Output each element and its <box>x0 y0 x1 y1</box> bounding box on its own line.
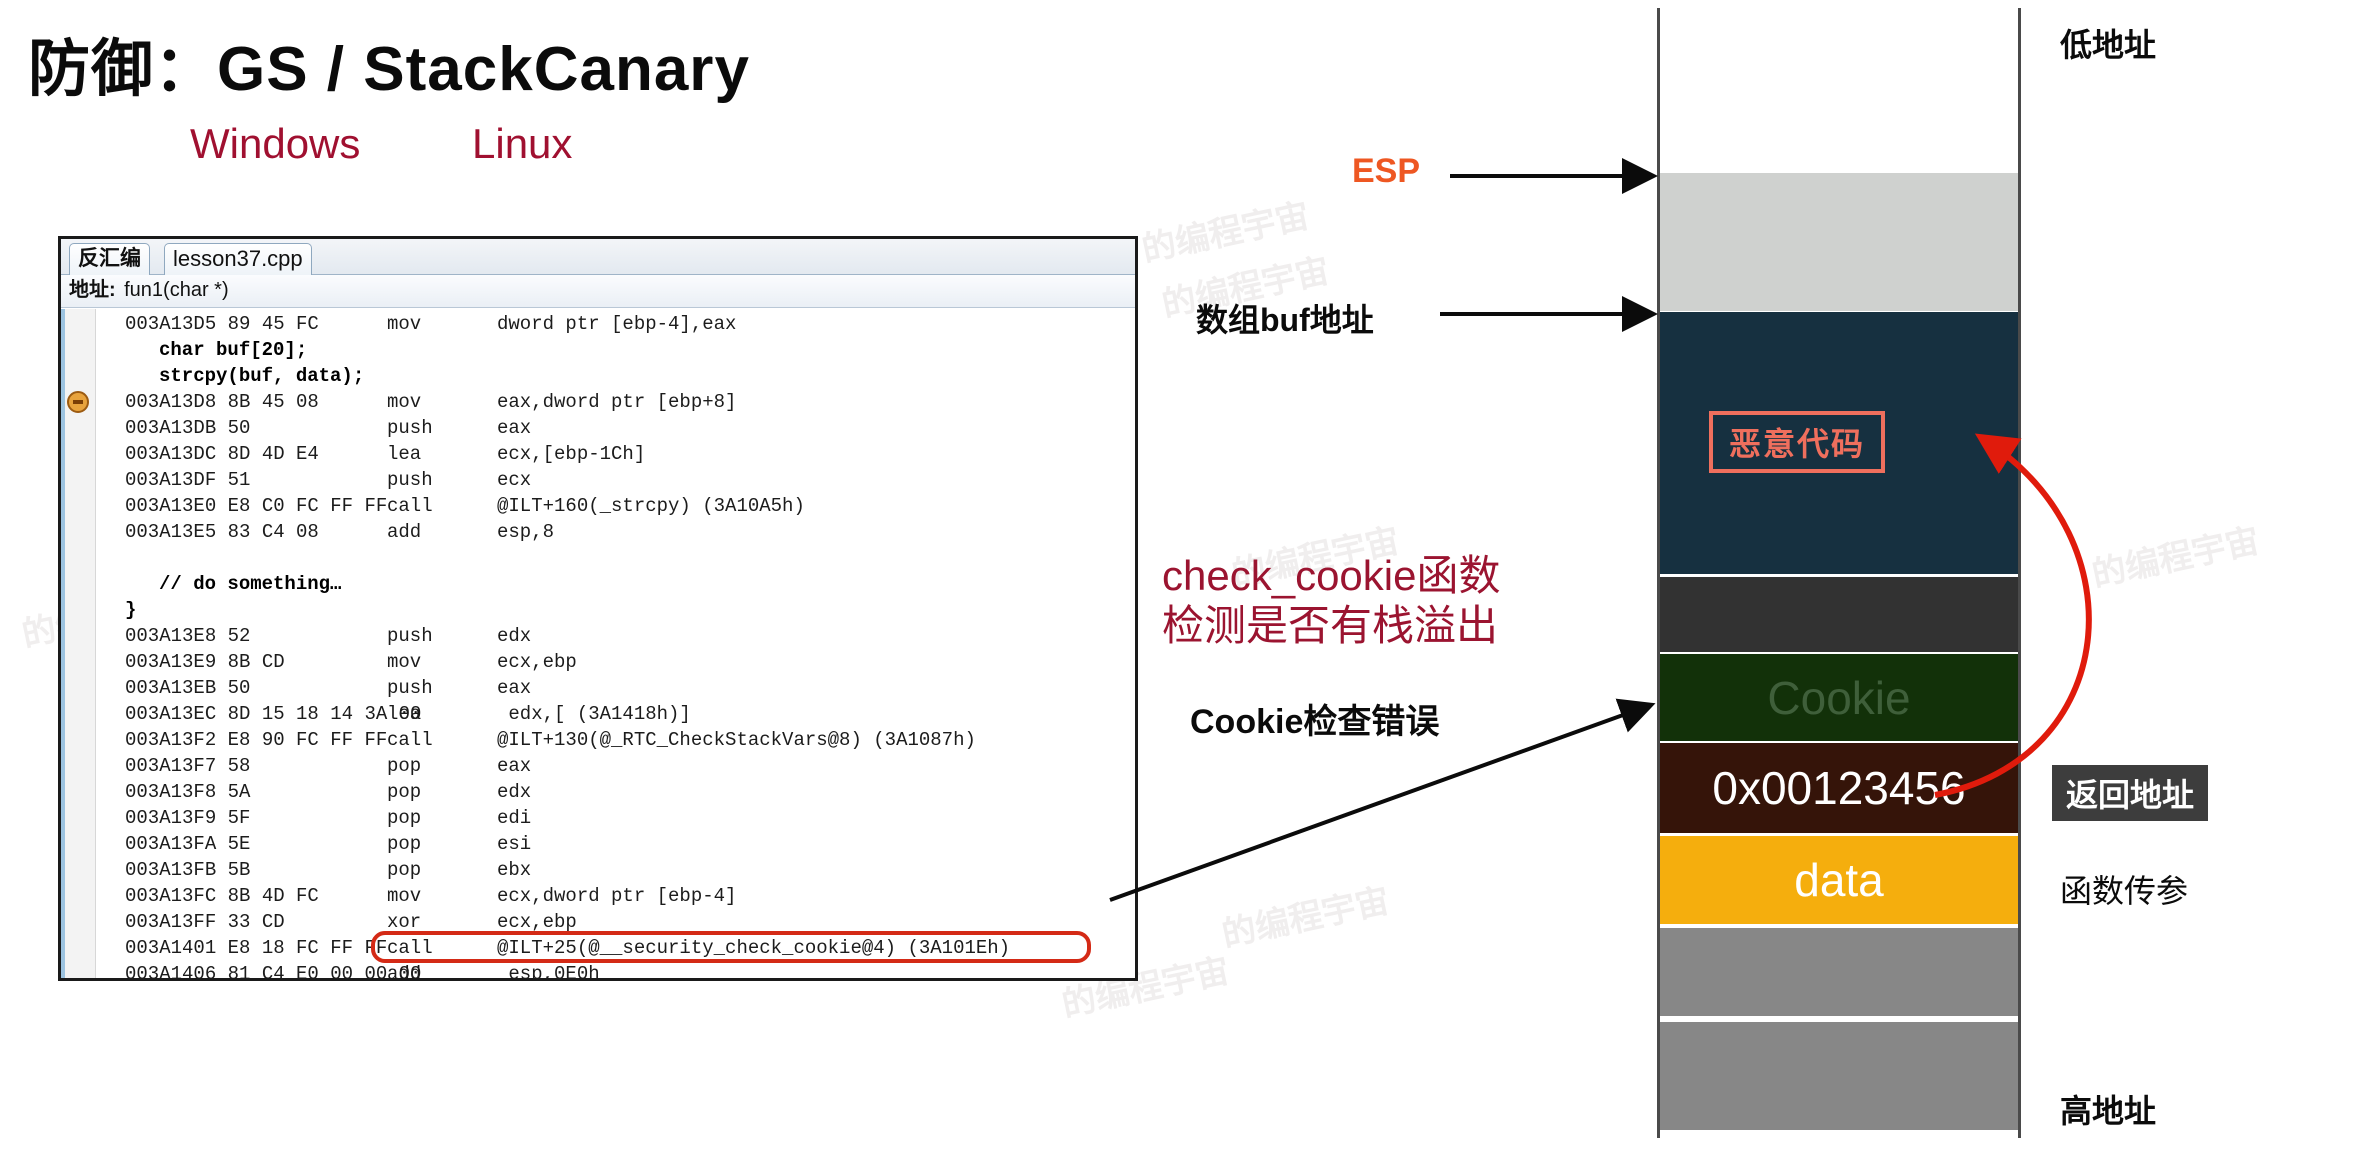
code-line-asm[interactable]: 003A13EC 8D 15 18 14 3A 00lea edx,[ (3A1… <box>97 701 1131 727</box>
instruction-operands: ecx,dword ptr [ebp-4] <box>497 883 736 909</box>
instruction-address: 003A13D5 89 45 FC <box>125 311 319 337</box>
instruction-mnemonic: mov <box>387 649 421 675</box>
stack-band-label: 0x00123456 <box>1712 761 1965 815</box>
code-line-asm[interactable]: 003A13D8 8B 45 08moveax,dword ptr [ebp+8… <box>97 389 1131 415</box>
source-text: char buf[20]; <box>159 337 307 363</box>
return-address-badge: 返回地址 <box>2052 765 2208 821</box>
instruction-operands: eax <box>497 675 531 701</box>
code-line-asm[interactable]: 003A13E5 83 C4 08addesp,8 <box>97 519 1131 545</box>
instruction-address: 003A13E5 83 C4 08 <box>125 519 319 545</box>
address-bar: 地址: fun1(char *) <box>61 275 1135 308</box>
instruction-mnemonic: pop <box>387 753 421 779</box>
instruction-address: 003A13EC 8D 15 18 14 3A 00 <box>125 701 421 727</box>
instruction-address: 003A13EB 50 <box>125 675 250 701</box>
platform-label-windows: Windows <box>190 120 360 168</box>
instruction-operands: @ILT+25(@__security_check_cookie@4) (3A1… <box>497 935 1010 961</box>
instruction-operands: dword ptr [ebp-4],eax <box>497 311 736 337</box>
instruction-operands: @ILT+130(@_RTC_CheckStackVars@8) (3A1087… <box>497 727 976 753</box>
instruction-address: 003A13E8 52 <box>125 623 250 649</box>
instruction-mnemonic: pop <box>387 779 421 805</box>
esp-label: ESP <box>1352 152 1420 191</box>
instruction-mnemonic: call <box>387 935 433 961</box>
source-text: strcpy(buf, data); <box>159 363 364 389</box>
code-line-source[interactable]: strcpy(buf, data); <box>97 363 1131 389</box>
instruction-operands: esp,8 <box>497 519 554 545</box>
instruction-mnemonic: push <box>387 467 433 493</box>
instruction-operands: edx <box>497 623 531 649</box>
instruction-address: 003A13FB 5B <box>125 857 250 883</box>
code-line-asm[interactable]: 003A13FA 5Epopesi <box>97 831 1131 857</box>
instruction-address: 003A13DC 8D 4D E4 <box>125 441 319 467</box>
instruction-mnemonic: call <box>387 493 433 519</box>
instruction-address: 003A13F9 5F <box>125 805 250 831</box>
instruction-address: 003A13DF 51 <box>125 467 250 493</box>
instruction-address: 003A13D8 8B 45 08 <box>125 389 319 415</box>
instruction-address: 003A13F8 5A <box>125 779 250 805</box>
instruction-mnemonic: push <box>387 415 433 441</box>
code-line-asm[interactable]: 003A13F7 58popeax <box>97 753 1131 779</box>
instruction-address: 003A1401 E8 18 FC FF FF <box>125 935 387 961</box>
instruction-mnemonic: xor <box>387 909 421 935</box>
stack-band-esp-free-space <box>1660 173 2018 311</box>
instruction-address: 003A13FC 8B 4D FC <box>125 883 319 909</box>
code-line-list: 003A13D5 89 45 FCmovdword ptr [ebp-4],ea… <box>97 311 1131 978</box>
code-line-source[interactable]: } <box>97 597 1131 623</box>
tab-strip: 反汇编 lesson37.cpp <box>61 239 1135 275</box>
stack-diagram: Cookie0x00123456data <box>1657 0 2355 1164</box>
code-line-asm[interactable]: 003A13E9 8B CDmovecx,ebp <box>97 649 1131 675</box>
code-line-source[interactable]: // do something… <box>97 571 1131 597</box>
stack-band-cookie: Cookie <box>1660 654 2018 741</box>
malicious-code-box: 恶意代码 <box>1709 411 1885 473</box>
instruction-operands: ecx,[ebp-1Ch] <box>497 441 645 467</box>
check-cookie-note-line1: check_cookie函数 <box>1162 551 1500 601</box>
source-text: // do something… <box>159 571 341 597</box>
code-line-asm[interactable]: 003A13DB 50pusheax <box>97 415 1131 441</box>
instruction-operands: edx <box>497 779 531 805</box>
code-line-asm[interactable]: 003A13F8 5Apopedx <box>97 779 1131 805</box>
instruction-operands: ebx <box>497 857 531 883</box>
code-line-source[interactable]: char buf[20]; <box>97 337 1131 363</box>
function-params-label: 函数传参 <box>2060 866 2188 912</box>
instruction-operands: eax <box>497 415 531 441</box>
instruction-mnemonic: add <box>387 519 421 545</box>
address-bar-label: 地址: <box>69 279 116 301</box>
code-body: 003A13D5 89 45 FCmovdword ptr [ebp-4],ea… <box>61 309 1135 978</box>
instruction-operands: ecx <box>497 467 531 493</box>
current-instruction-pointer-icon <box>67 391 89 413</box>
instruction-mnemonic: pop <box>387 805 421 831</box>
code-line-asm[interactable]: 003A13FC 8B 4D FCmovecx,dword ptr [ebp-4… <box>97 883 1131 909</box>
instruction-mnemonic: mov <box>387 311 421 337</box>
stack-band-caller-frame-1 <box>1660 928 2018 1016</box>
instruction-operands: edx,[ (3A1418h)] <box>497 701 691 727</box>
instruction-mnemonic: mov <box>387 389 421 415</box>
instruction-mnemonic: push <box>387 675 433 701</box>
check-cookie-note-line2: 检测是否有栈溢出 <box>1162 601 1500 651</box>
instruction-operands: @ILT+160(_strcpy) (3A10A5h) <box>497 493 805 519</box>
disassembly-window: 反汇编 lesson37.cpp 地址: fun1(char *) 003A13… <box>58 236 1138 981</box>
instruction-address: 003A1406 81 C4 E0 00 00 00 <box>125 961 421 981</box>
code-line-asm[interactable]: 003A13F9 5Fpopedi <box>97 805 1131 831</box>
watermark: 的编程宇宙 <box>1217 873 1393 956</box>
code-line-asm[interactable]: 003A13E0 E8 C0 FC FF FFcall@ILT+160(_str… <box>97 493 1131 519</box>
low-address-label: 低地址 <box>2060 20 2156 66</box>
instruction-mnemonic: add <box>387 961 421 981</box>
instruction-operands: ecx,ebp <box>497 649 577 675</box>
tab-source-file[interactable]: lesson37.cpp <box>164 243 312 275</box>
stack-right-rail <box>2018 8 2021 1138</box>
page-title: 防御：GS / StackCanary <box>28 18 750 108</box>
instruction-operands: ecx,ebp <box>497 909 577 935</box>
code-line-asm[interactable]: 003A13F2 E8 90 FC FF FFcall@ILT+130(@_RT… <box>97 727 1131 753</box>
code-line-asm[interactable]: 003A13DC 8D 4D E4leaecx,[ebp-1Ch] <box>97 441 1131 467</box>
buf-address-label: 数组buf地址 <box>1196 295 1374 341</box>
code-line-asm[interactable]: 003A13FB 5Bpopebx <box>97 857 1131 883</box>
instruction-mnemonic: lea <box>387 441 421 467</box>
code-line-asm[interactable]: 003A13EB 50pusheax <box>97 675 1131 701</box>
code-line-asm[interactable]: 003A13D5 89 45 FCmovdword ptr [ebp-4],ea… <box>97 311 1131 337</box>
check-cookie-note: check_cookie函数 检测是否有栈溢出 <box>1162 551 1500 651</box>
cookie-error-label: Cookie检查错误 <box>1190 694 1439 743</box>
code-line-asm[interactable]: 003A13FF 33 CDxorecx,ebp <box>97 909 1131 935</box>
stack-band-saved-regs <box>1660 577 2018 652</box>
gutter-accent-bar <box>61 309 65 978</box>
instruction-mnemonic: pop <box>387 857 421 883</box>
instruction-operands: eax <box>497 753 531 779</box>
code-line-asm[interactable]: 003A1401 E8 18 FC FF FFcall@ILT+25(@__se… <box>97 935 1131 961</box>
code-line-asm[interactable]: 003A13E8 52pushedx <box>97 623 1131 649</box>
code-line-asm[interactable]: 003A13DF 51pushecx <box>97 467 1131 493</box>
stack-band-label: Cookie <box>1767 671 1910 725</box>
instruction-address: 003A13DB 50 <box>125 415 250 441</box>
instruction-operands: esi <box>497 831 531 857</box>
instruction-address: 003A13E9 8B CD <box>125 649 285 675</box>
stack-band-caller-frame-2 <box>1660 1022 2018 1130</box>
source-text: } <box>125 597 136 623</box>
instruction-operands: eax,dword ptr [ebp+8] <box>497 389 736 415</box>
instruction-mnemonic: lea <box>387 701 421 727</box>
platform-label-linux: Linux <box>472 120 572 168</box>
high-address-label: 高地址 <box>2060 1086 2156 1132</box>
instruction-mnemonic: call <box>387 727 433 753</box>
address-bar-value[interactable]: fun1(char *) <box>124 279 229 301</box>
instruction-mnemonic: pop <box>387 831 421 857</box>
instruction-operands: esp,0E0h <box>497 961 600 981</box>
instruction-address: 003A13F2 E8 90 FC FF FF <box>125 727 387 753</box>
watermark: 的编程宇宙 <box>1137 188 1313 271</box>
instruction-mnemonic: mov <box>387 883 421 909</box>
code-line-asm[interactable]: 003A1406 81 C4 E0 00 00 00add esp,0E0h <box>97 961 1131 981</box>
code-line-blank <box>97 545 1131 571</box>
stack-band-function-args: data <box>1660 836 2018 924</box>
instruction-mnemonic: push <box>387 623 433 649</box>
instruction-address: 003A13F7 58 <box>125 753 250 779</box>
tab-disassembly[interactable]: 反汇编 <box>69 243 150 275</box>
stack-band-return-address: 0x00123456 <box>1660 743 2018 833</box>
slide-canvas: 的编程宇宙 的编程宇宙 的编程宇宙 的编程宇宙 的编程宇宙 的编程宇宙 的编程宇… <box>0 0 2355 1164</box>
instruction-address: 003A13FA 5E <box>125 831 250 857</box>
instruction-address: 003A13FF 33 CD <box>125 909 285 935</box>
stack-band-label: data <box>1794 853 1884 907</box>
instruction-operands: edi <box>497 805 531 831</box>
instruction-address: 003A13E0 E8 C0 FC FF FF <box>125 493 387 519</box>
